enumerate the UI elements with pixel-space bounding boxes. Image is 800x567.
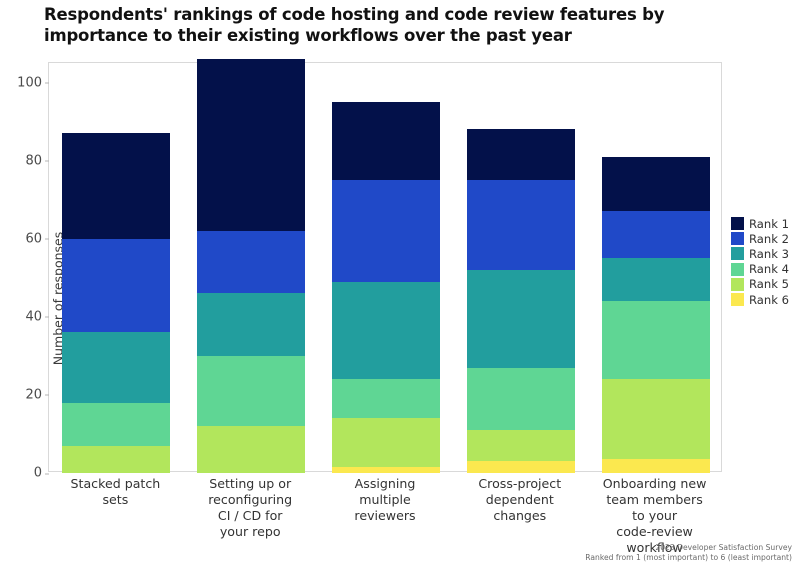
x-axis-label-line: CI / CD for (183, 508, 318, 524)
legend-item[interactable]: Rank 3 (731, 246, 800, 261)
chart-legend: Rank 1Rank 2Rank 3Rank 4Rank 5Rank 6 (731, 216, 800, 307)
legend-label: Rank 2 (749, 232, 789, 246)
bar-segment[interactable] (602, 211, 710, 258)
legend-item[interactable]: Rank 4 (731, 262, 800, 277)
bar-segment[interactable] (197, 356, 305, 426)
stacked-bar-chart: Respondents' rankings of code hosting an… (0, 0, 800, 567)
bar-group[interactable] (62, 63, 170, 471)
bar-segment[interactable] (197, 293, 305, 355)
bar-group[interactable] (197, 63, 305, 471)
bar-segment[interactable] (602, 157, 710, 212)
y-tick-label: 20 (25, 387, 49, 402)
bar-segment[interactable] (332, 102, 440, 180)
x-axis-label-line: Stacked patch (48, 476, 183, 492)
x-axis-label-line: to your (587, 508, 722, 524)
bar-segment[interactable] (62, 403, 170, 446)
x-axis-label-line: Setting up or (183, 476, 318, 492)
bar-segment[interactable] (62, 133, 170, 238)
bar-segment[interactable] (467, 129, 575, 180)
x-axis-label-line: your repo (183, 524, 318, 540)
bar-segment[interactable] (467, 180, 575, 270)
chart-title: Respondents' rankings of code hosting an… (44, 4, 734, 46)
footnote-line-1: 2023 Developer Satisfaction Survey (585, 543, 792, 553)
x-axis-label-line: team members (587, 492, 722, 508)
x-axis-category-label: Setting up orreconfiguringCI / CD foryou… (183, 476, 318, 540)
x-axis-label-line: Assigning (318, 476, 453, 492)
bar-segment[interactable] (467, 430, 575, 461)
x-axis-label-line: reconfiguring (183, 492, 318, 508)
bar-segment[interactable] (467, 461, 575, 473)
bar-segment[interactable] (602, 459, 710, 473)
legend-swatch-icon (731, 278, 744, 291)
bar-segment[interactable] (332, 379, 440, 418)
bar-segment[interactable] (62, 446, 170, 473)
y-tick-label: 0 (34, 466, 49, 481)
bar-segment[interactable] (332, 418, 440, 467)
bar-segment[interactable] (332, 467, 440, 473)
x-axis-label-line: multiple (318, 492, 453, 508)
x-axis-category-label: Assigningmultiplereviewers (318, 476, 453, 524)
x-axis-label-line: dependent (452, 492, 587, 508)
x-axis-label-line: sets (48, 492, 183, 508)
x-axis-label-line: Cross-project (452, 476, 587, 492)
footnote-line-2: Ranked from 1 (most important) to 6 (lea… (585, 553, 792, 563)
y-tick-label: 60 (25, 231, 49, 246)
bar-group[interactable] (602, 63, 710, 471)
y-tick-label: 40 (25, 309, 49, 324)
bars-layer (49, 63, 721, 471)
legend-label: Rank 1 (749, 217, 789, 231)
x-axis-label-line: changes (452, 508, 587, 524)
bar-segment[interactable] (602, 379, 710, 459)
y-tick-label: 100 (17, 75, 49, 90)
bar-segment[interactable] (62, 239, 170, 333)
y-tick-label: 80 (25, 153, 49, 168)
legend-item[interactable]: Rank 6 (731, 292, 800, 307)
legend-item[interactable]: Rank 2 (731, 231, 800, 246)
x-axis-label-line: code-review (587, 524, 722, 540)
bar-segment[interactable] (197, 426, 305, 473)
bar-segment[interactable] (602, 258, 710, 301)
bar-segment[interactable] (332, 180, 440, 282)
legend-item[interactable]: Rank 5 (731, 277, 800, 292)
bar-segment[interactable] (602, 301, 710, 379)
bar-segment[interactable] (467, 270, 575, 368)
plot-area: Number of responses 020406080100 (48, 62, 722, 472)
x-axis-category-label: Stacked patchsets (48, 476, 183, 508)
legend-item[interactable]: Rank 1 (731, 216, 800, 231)
x-axis-label-line: Onboarding new (587, 476, 722, 492)
legend-swatch-icon (731, 217, 744, 230)
legend-label: Rank 3 (749, 247, 789, 261)
legend-label: Rank 4 (749, 262, 789, 276)
legend-swatch-icon (731, 263, 744, 276)
legend-swatch-icon (731, 247, 744, 260)
legend-swatch-icon (731, 232, 744, 245)
legend-label: Rank 5 (749, 277, 789, 291)
chart-footnote: 2023 Developer Satisfaction Survey Ranke… (585, 543, 792, 564)
x-axis-category-label: Cross-projectdependentchanges (452, 476, 587, 524)
bar-group[interactable] (332, 63, 440, 471)
legend-label: Rank 6 (749, 293, 789, 307)
bar-segment[interactable] (62, 332, 170, 402)
bar-segment[interactable] (332, 282, 440, 380)
bar-group[interactable] (467, 63, 575, 471)
bar-segment[interactable] (467, 368, 575, 430)
legend-swatch-icon (731, 293, 744, 306)
x-axis-label-line: reviewers (318, 508, 453, 524)
bar-segment[interactable] (197, 59, 305, 231)
bar-segment[interactable] (197, 231, 305, 293)
